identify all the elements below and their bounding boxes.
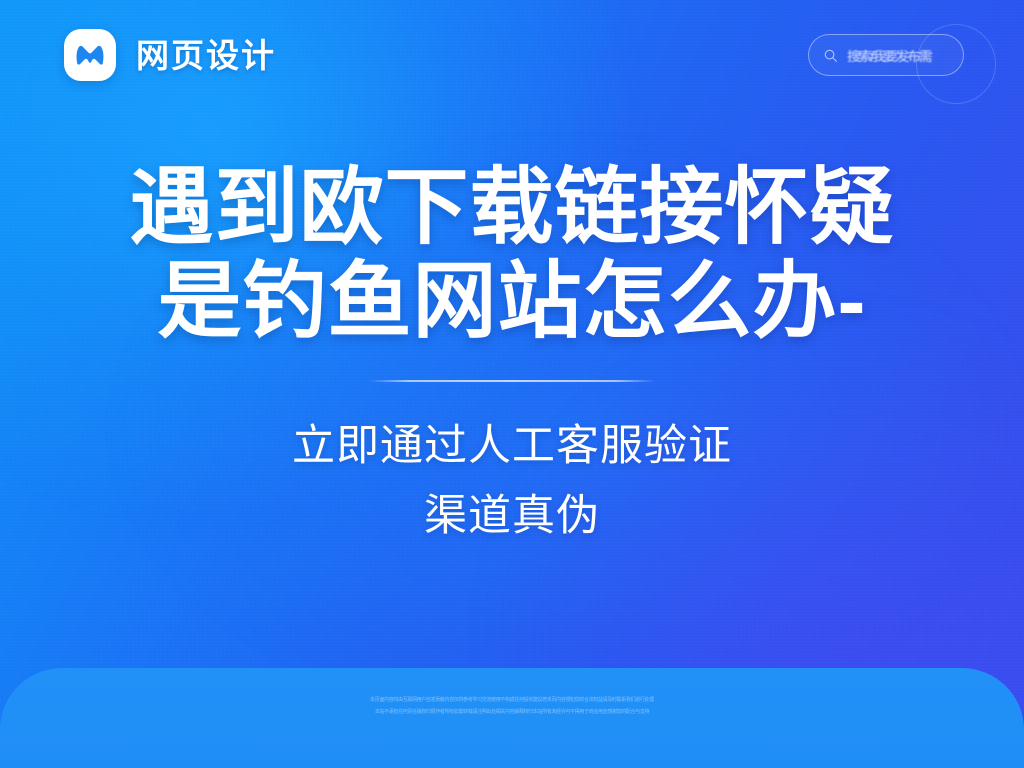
search-input-text: 搜索/我要发布需	[847, 46, 930, 65]
app-logo-m-icon	[64, 29, 116, 81]
subtitle-line-2: 渠道真伪	[0, 482, 1024, 552]
search-icon	[823, 48, 838, 63]
brand-block[interactable]: 网页设计	[64, 29, 276, 81]
footer-disclaimer-line-2: 本站不承担任何责任版权归原作者所有如需转载请注明出处相关内容解释权归本站所有未经…	[220, 706, 804, 718]
page-title: 网页设计	[136, 39, 276, 72]
subtitle: 立即通过人工客服验证 渠道真伪	[0, 412, 1024, 551]
promo-banner-page: 网页设计 搜索/我要发布需 遇到欧下载链接怀疑 是钓鱼网站怎么办- 立即通过人工…	[0, 0, 1024, 768]
footer-disclaimer: 本页面内容均由互联网用户自发贡献内容仅供参考学习交流使用不构成任何投资建议若本页…	[0, 694, 1024, 718]
bottom-panel: 本页面内容均由互联网用户自发贡献内容仅供参考学习交流使用不构成任何投资建议若本页…	[0, 668, 1024, 768]
headline-divider	[369, 380, 655, 382]
footer-disclaimer-line-1: 本页面内容均由互联网用户自发贡献内容仅供参考学习交流使用不构成任何投资建议若本页…	[220, 694, 804, 706]
headline: 遇到欧下载链接怀疑 是钓鱼网站怎么办-	[0, 160, 1024, 348]
page-header: 网页设计 搜索/我要发布需	[0, 0, 1024, 110]
hero-section: 遇到欧下载链接怀疑 是钓鱼网站怎么办- 立即通过人工客服验证 渠道真伪	[0, 160, 1024, 551]
headline-line-2: 是钓鱼网站怎么办-	[0, 254, 1024, 348]
headline-line-1: 遇到欧下载链接怀疑	[0, 160, 1024, 254]
subtitle-line-1: 立即通过人工客服验证	[0, 412, 1024, 482]
search-input[interactable]: 搜索/我要发布需	[808, 34, 964, 76]
